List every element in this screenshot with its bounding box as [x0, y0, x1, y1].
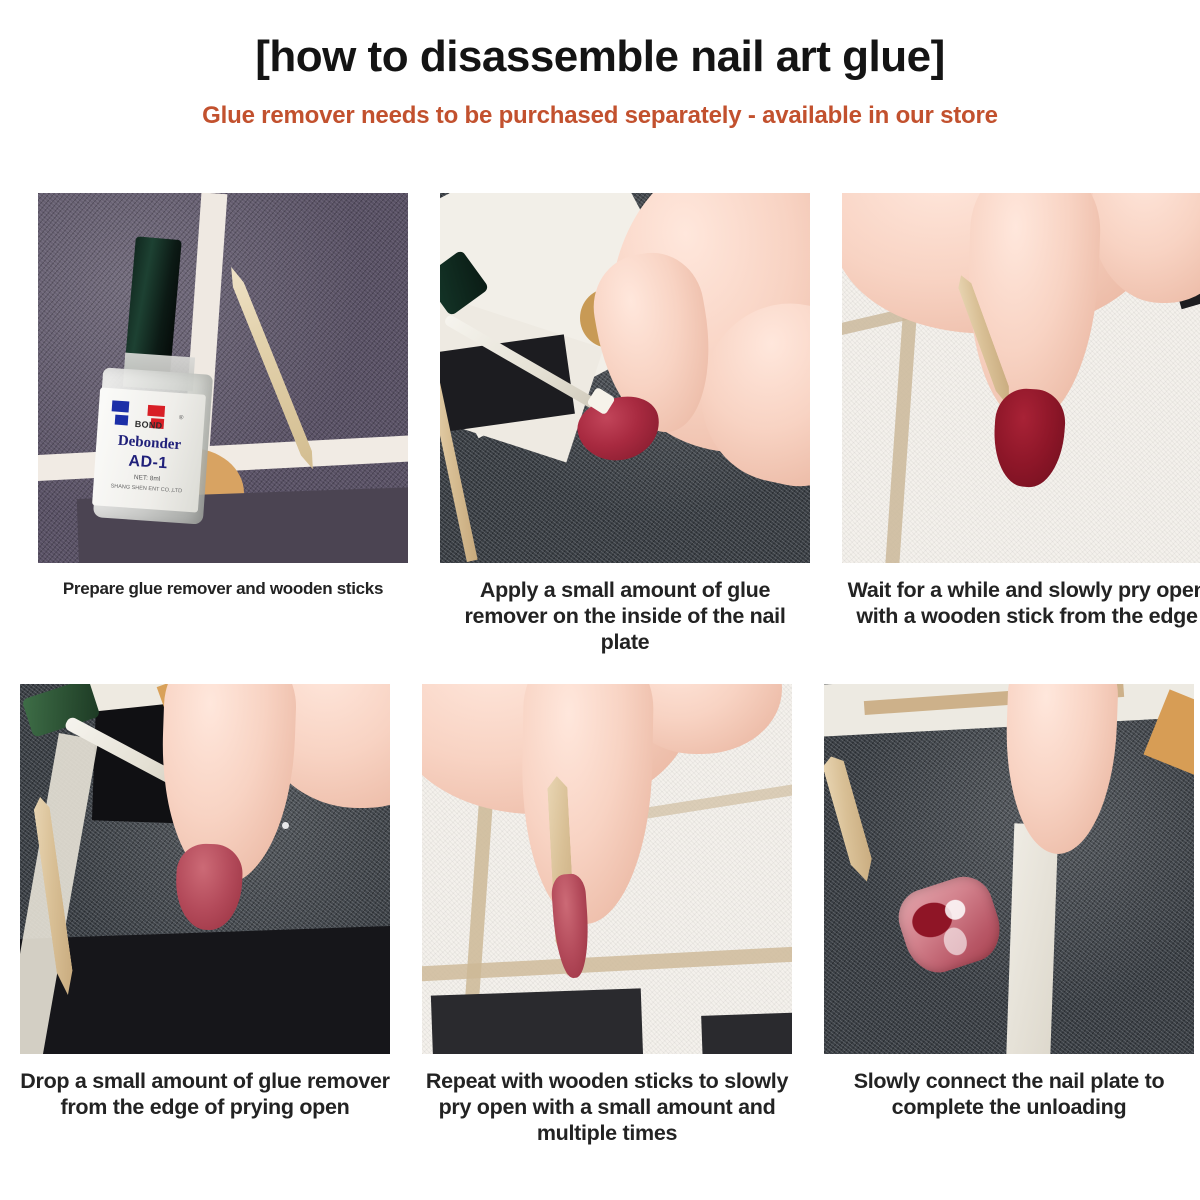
background-dark-patch-2 — [701, 1012, 792, 1054]
step-photo-2 — [440, 193, 810, 563]
step-caption-2: Apply a small amount of glue remover on … — [440, 563, 810, 656]
step-caption-6: Slowly connect the nail plate to complet… — [824, 1054, 1194, 1120]
bottle-label: BOND ® Debonder AD-1 NET: 8ml SHANG SHEN… — [92, 387, 206, 512]
step-card-2: Apply a small amount of glue remover on … — [440, 193, 810, 656]
infographic-header: [how to disassemble nail art glue] Glue … — [0, 0, 1200, 130]
steps-row-top: BOND ® Debonder AD-1 NET: 8ml SHANG SHEN… — [0, 193, 1200, 656]
bottle-company-line: SHANG SHEN ENT CO.,LTD — [97, 482, 195, 495]
step-photo-1: BOND ® Debonder AD-1 NET: 8ml SHANG SHEN… — [38, 193, 408, 563]
step-caption-4: Drop a small amount of glue remover from… — [20, 1054, 390, 1120]
step-photo-6 — [824, 684, 1194, 1054]
background-light-strip — [1006, 823, 1059, 1054]
background-dark-patch — [431, 988, 643, 1054]
steps-grid: BOND ® Debonder AD-1 NET: 8ml SHANG SHEN… — [0, 193, 1200, 1146]
page-subtitle: Glue remover needs to be purchased separ… — [0, 80, 1200, 130]
background-highlight-dot — [282, 822, 289, 829]
bottle-brand-text: BOND — [134, 419, 162, 431]
step-card-5: Repeat with wooden sticks to slowly pry … — [422, 684, 792, 1147]
step-card-4: Drop a small amount of glue remover from… — [20, 684, 390, 1147]
brand-logo-icon: BOND ® — [111, 400, 189, 431]
steps-row-bottom: Drop a small amount of glue remover from… — [0, 684, 1200, 1147]
step-card-6: Slowly connect the nail plate to complet… — [824, 684, 1194, 1147]
registered-mark-icon: ® — [179, 415, 184, 421]
bottle-model: AD-1 — [103, 451, 194, 475]
step-photo-3 — [842, 193, 1200, 563]
step-card-3: Wait for a while and slowly pry open wit… — [842, 193, 1200, 656]
step-photo-4 — [20, 684, 390, 1054]
step-caption-5: Repeat with wooden sticks to slowly pry … — [422, 1054, 792, 1147]
background-dark-patch-2 — [20, 924, 390, 1053]
page-title: [how to disassemble nail art glue] — [0, 34, 1200, 80]
step-caption-3: Wait for a while and slowly pry open wit… — [842, 563, 1200, 629]
step-caption-1: Prepare glue remover and wooden sticks — [38, 563, 408, 600]
step-card-1: BOND ® Debonder AD-1 NET: 8ml SHANG SHEN… — [38, 193, 408, 656]
step-photo-5 — [422, 684, 792, 1054]
